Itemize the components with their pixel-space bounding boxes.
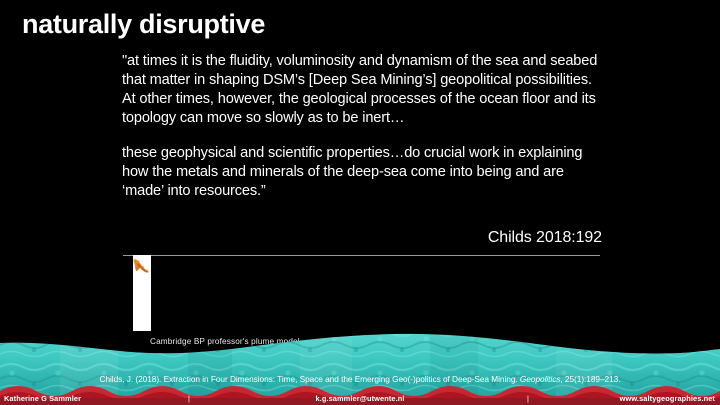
horizontal-divider	[123, 255, 600, 256]
reference-part-2: , 25(1):189–213.	[560, 374, 620, 384]
footer-separator-2: |	[527, 394, 529, 403]
footer-email[interactable]: k.g.sammler@utwente.nl	[315, 394, 404, 403]
quote-paragraph-2: these geophysical and scientific propert…	[122, 144, 604, 201]
quote-block: "at times it is the fluidity, voluminosi…	[122, 52, 604, 201]
slide-canvas: naturally disruptive "at times it is the…	[0, 0, 720, 405]
footer-separator-1: |	[188, 394, 190, 403]
quote-paragraph-1: "at times it is the fluidity, voluminosi…	[122, 52, 604, 128]
plume-shape-icon	[133, 255, 151, 331]
reference-journal-title: Geopolitics	[520, 374, 561, 384]
page-title: naturally disruptive	[22, 8, 265, 40]
reference-line: Childs, J. (2018). Extraction in Four Di…	[0, 374, 720, 384]
footer-website[interactable]: www.saltygeographies.net	[620, 394, 715, 403]
footer-bar: Katherine G Sammler | k.g.sammler@utwent…	[0, 391, 720, 405]
footer-author: Katherine G Sammler	[4, 394, 81, 403]
quote-citation: Childs 2018:192	[488, 229, 602, 247]
reference-part-1: Childs, J. (2018). Extraction in Four Di…	[100, 374, 520, 384]
plume-model-image	[133, 255, 151, 331]
